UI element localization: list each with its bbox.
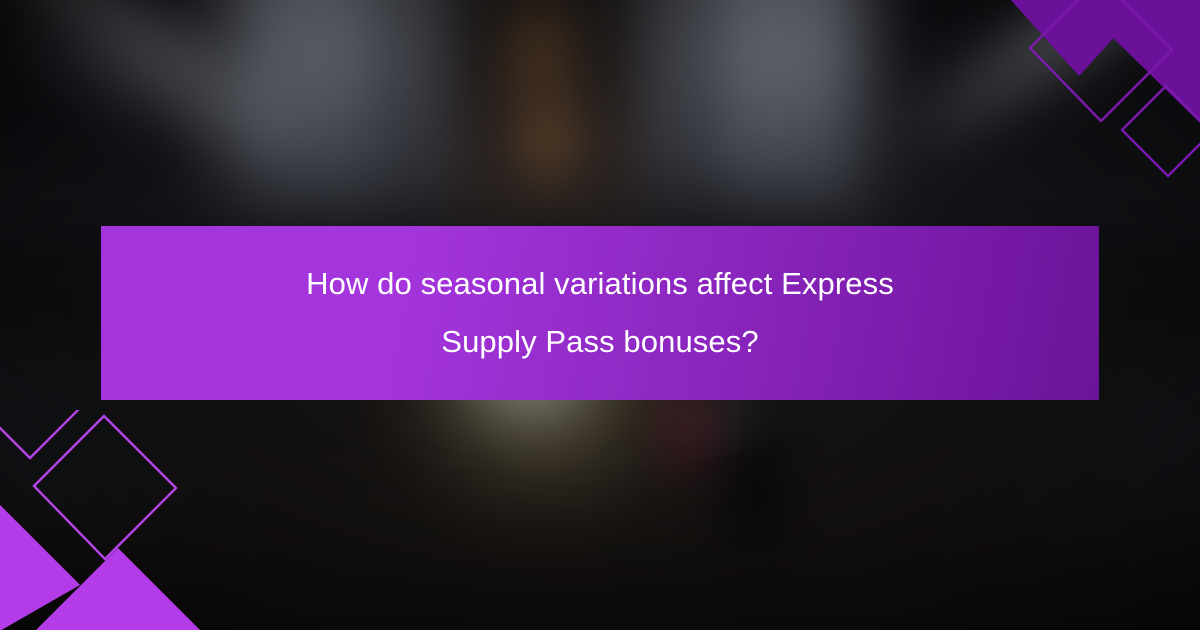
headline-banner: How do seasonal variations affect Expres… <box>101 226 1099 400</box>
page-title: How do seasonal variations affect Expres… <box>306 255 894 371</box>
question-card: How do seasonal variations affect Expres… <box>0 0 1200 630</box>
